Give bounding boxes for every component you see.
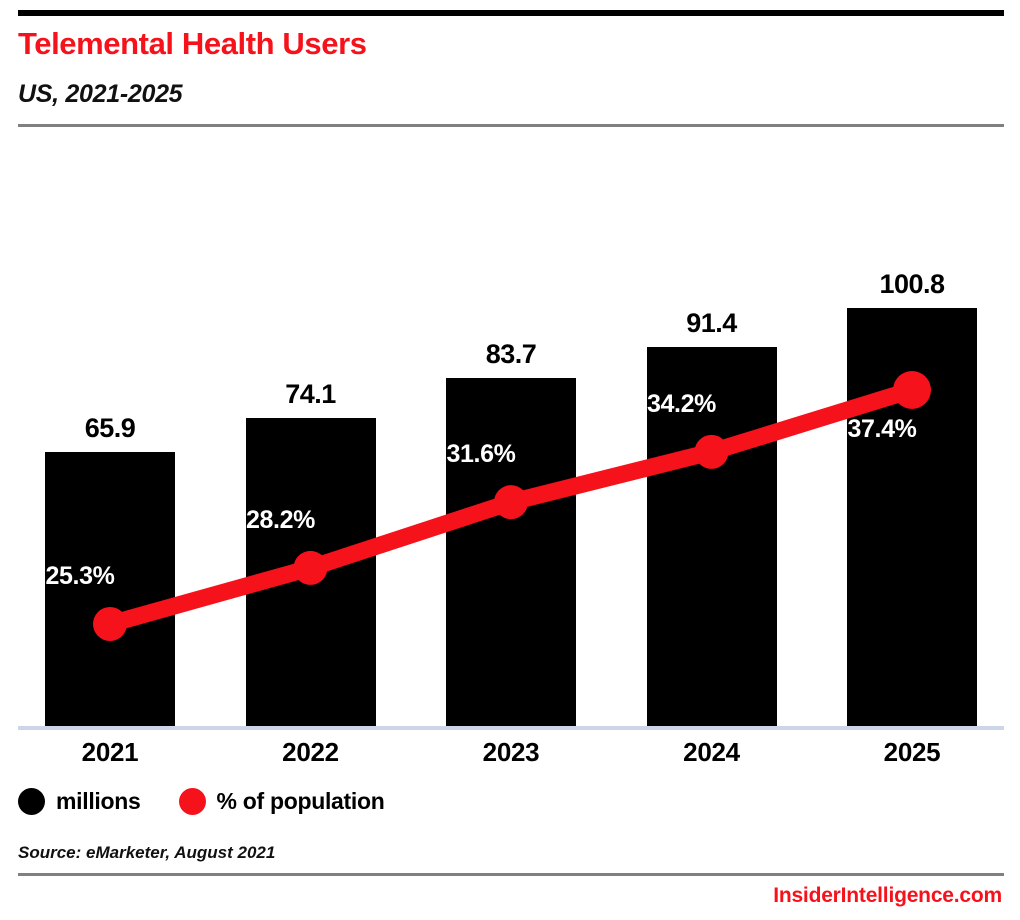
legend-circle-icon-percent — [179, 788, 206, 815]
percent-label-2025: 37.4% — [802, 415, 962, 444]
bar-2025 — [847, 308, 977, 727]
x-axis-tick-2024: 2024 — [612, 737, 812, 768]
x-axis-tick-2022: 2022 — [211, 737, 411, 768]
percent-label-2023: 31.6% — [401, 440, 561, 469]
brand-wordmark[interactable]: InsiderIntelligence.com — [773, 884, 1002, 908]
bar-value-label-2023: 83.7 — [411, 339, 611, 370]
legend-circle-icon-millions — [18, 788, 45, 815]
x-axis-tick-2025: 2025 — [812, 737, 1012, 768]
x-axis-line — [18, 726, 1004, 730]
x-axis-tick-2021: 2021 — [10, 737, 210, 768]
percent-label-2024: 34.2% — [602, 390, 762, 419]
bar-value-label-2024: 91.4 — [612, 308, 812, 339]
bar-2022 — [246, 418, 376, 726]
x-axis-tick-2023: 2023 — [411, 737, 611, 768]
bar-value-label-2022: 74.1 — [211, 379, 411, 410]
percent-label-2022: 28.2% — [201, 506, 361, 535]
bar-value-label-2025: 100.8 — [812, 269, 1012, 300]
chart-page: Telemental Health Users US, 2021-2025 65… — [0, 0, 1020, 920]
chart-legend: millions % of population — [18, 788, 384, 815]
legend-item-millions[interactable]: millions — [18, 788, 141, 815]
legend-label-percent: % of population — [217, 788, 385, 815]
source-note: Source: eMarketer, August 2021 — [18, 843, 275, 863]
footer-divider — [18, 873, 1004, 876]
bar-2023 — [446, 378, 576, 726]
bar-value-label-2021: 65.9 — [10, 413, 210, 444]
percent-label-2021: 25.3% — [0, 562, 160, 591]
chart-plot-area: 65.974.183.791.4100.8 25.3%28.2%31.6%34.… — [0, 0, 1020, 920]
legend-item-percent-of-population[interactable]: % of population — [179, 788, 385, 815]
legend-label-millions: millions — [56, 788, 141, 815]
